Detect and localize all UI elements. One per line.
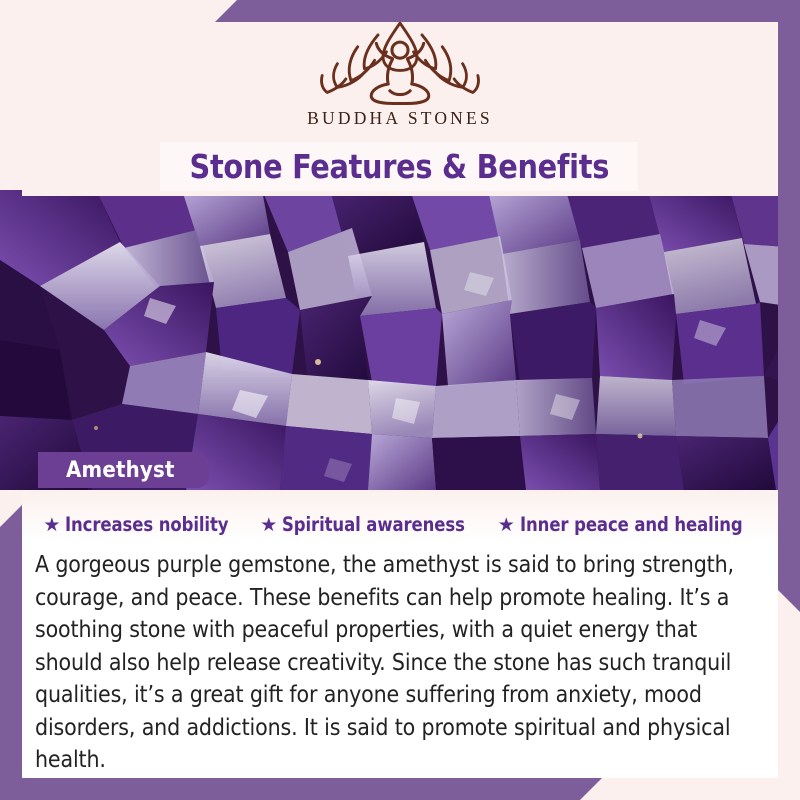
crystal-photo-art — [0, 190, 800, 490]
amethyst-crystal-photo — [0, 190, 800, 490]
star-icon: ★ — [43, 516, 60, 535]
star-icon: ★ — [498, 516, 515, 535]
brand-logo: BUDDHA STONES — [22, 18, 778, 129]
frame-border-bottom — [0, 778, 602, 800]
frame-border-right — [778, 0, 800, 612]
section-title-band: Stone Features & Benefits — [160, 142, 638, 191]
frame-border-left — [0, 505, 22, 800]
lotus-meditation-figure-icon — [314, 18, 486, 106]
content-panel: ★ Increases nobility ★ Spiritual awarene… — [22, 490, 778, 778]
stone-name-label: Amethyst — [66, 458, 175, 483]
stone-name-badge: Amethyst — [38, 452, 209, 488]
benefits-list: ★ Increases nobility ★ Spiritual awarene… — [22, 513, 778, 536]
page-title: Stone Features & Benefits — [189, 147, 609, 186]
benefit-label-3: Inner peace and healing — [520, 513, 743, 536]
benefit-item-3: ★ Inner peace and healing — [498, 513, 757, 536]
benefit-item-2: ★ Spiritual awareness — [260, 513, 477, 536]
benefit-label-1: Increases nobility — [65, 513, 228, 536]
stone-description: A gorgeous purple gemstone, the amethyst… — [35, 548, 747, 776]
stone-info-card: BUDDHA STONES Stone Features & Benefits … — [0, 0, 800, 800]
benefit-item-1: ★ Increases nobility — [43, 513, 239, 536]
star-icon: ★ — [260, 516, 277, 535]
frame-border-top — [215, 0, 800, 22]
brand-name: BUDDHA STONES — [307, 108, 493, 129]
benefit-label-2: Spiritual awareness — [282, 513, 465, 536]
